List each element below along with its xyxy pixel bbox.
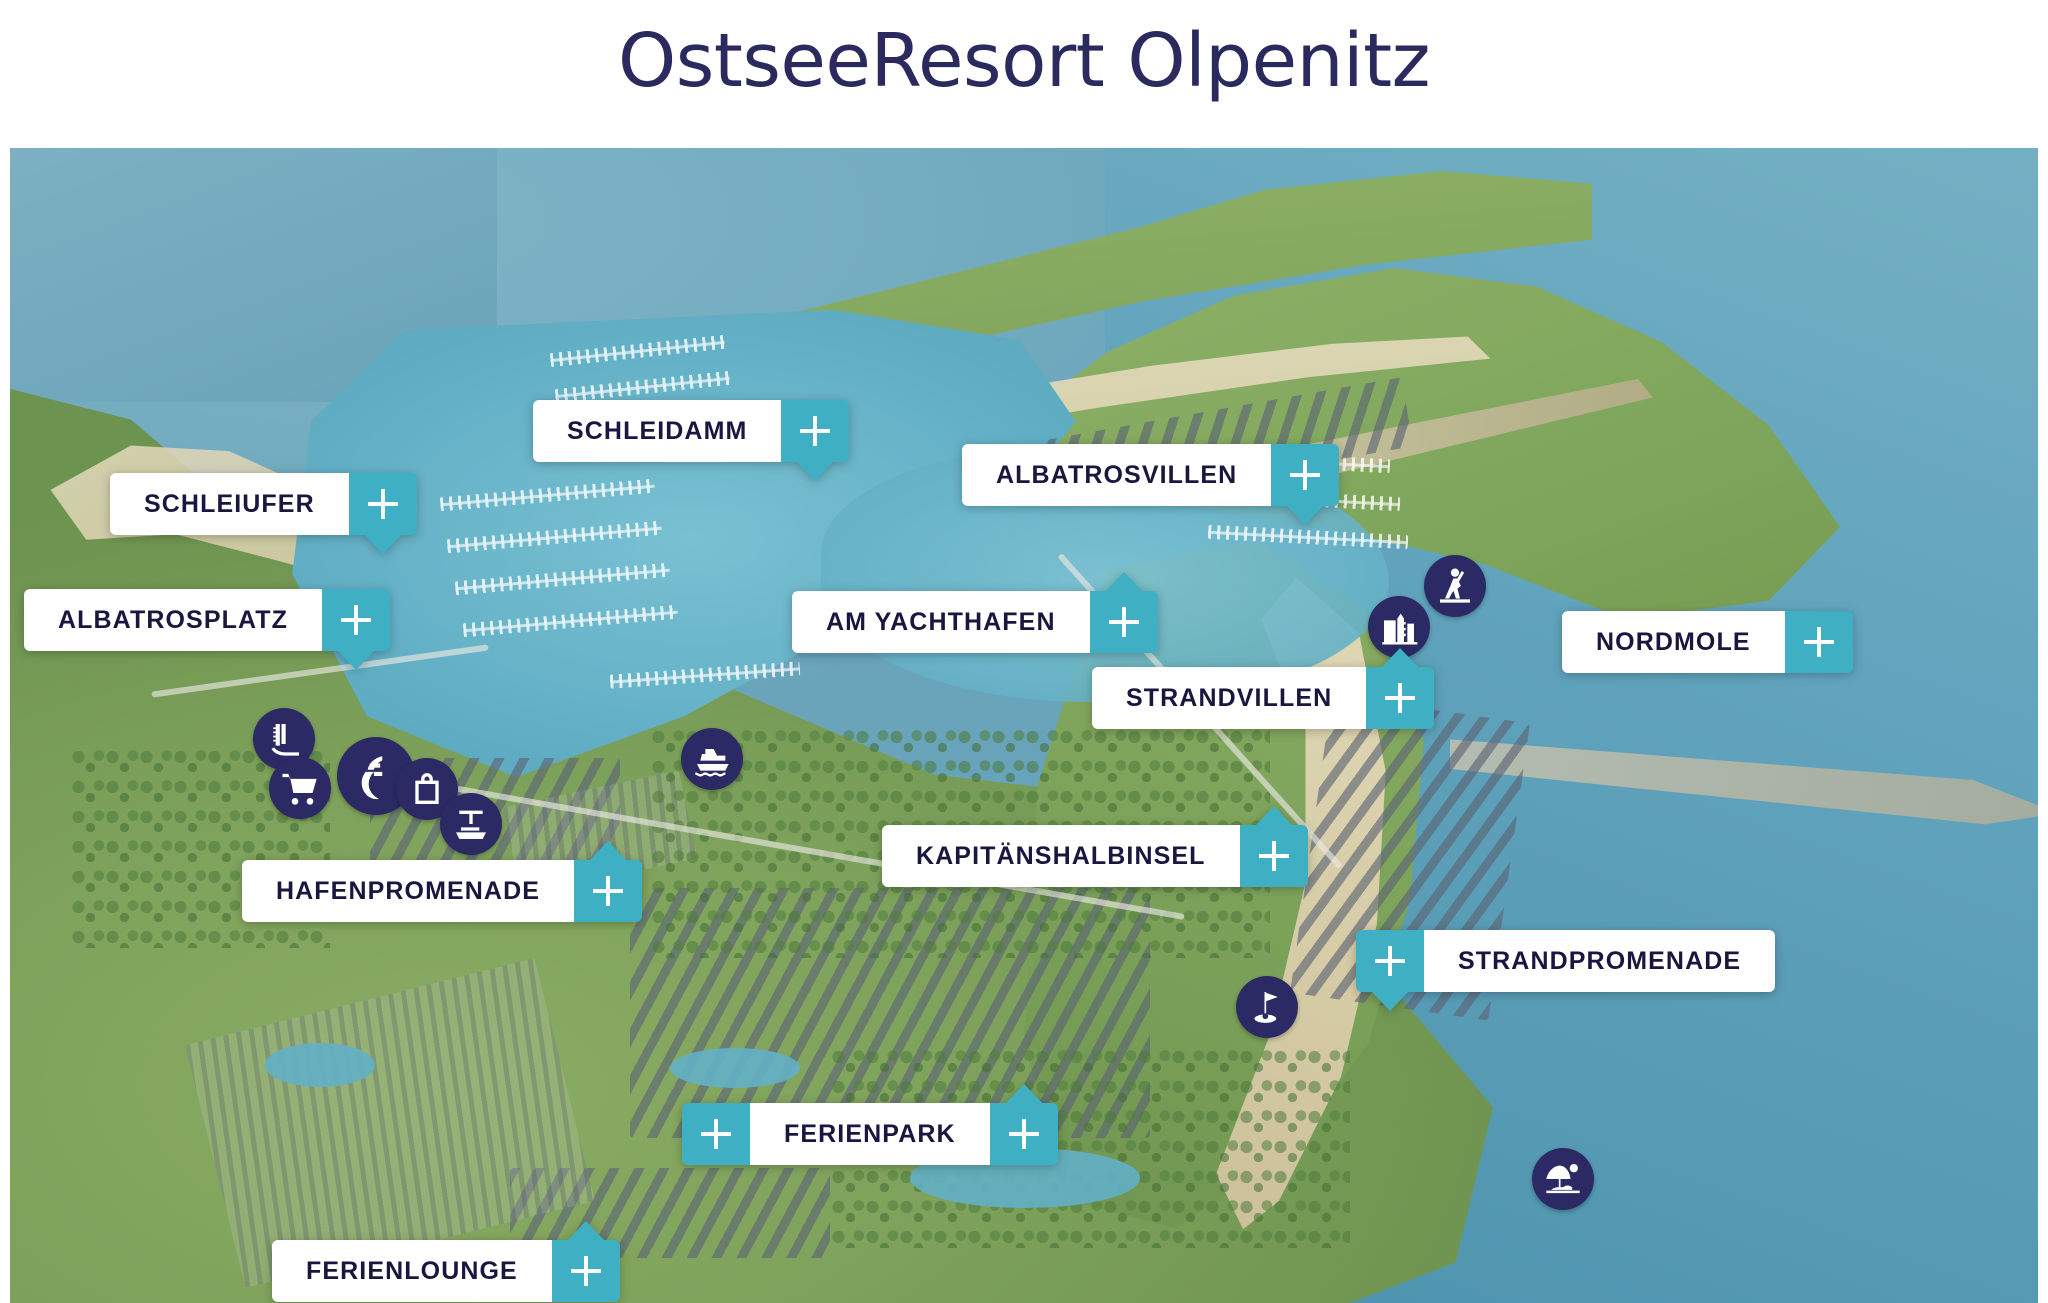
plus-icon[interactable] <box>349 473 417 535</box>
hotspot-label: SCHLEIUFER <box>110 473 349 535</box>
plus-icon[interactable] <box>1240 825 1308 887</box>
plus-icon[interactable] <box>552 1240 620 1302</box>
hotspot-label: NORDMOLE <box>1562 611 1785 673</box>
hotspot-label: FERIENLOUNGE <box>272 1240 552 1302</box>
plus-icon[interactable] <box>574 860 642 922</box>
hotspot-am-yachthafen[interactable]: AM YACHTHAFEN <box>792 591 1158 653</box>
hotspot-hafenpromenade[interactable]: HAFENPROMENADE <box>242 860 642 922</box>
plus-icon[interactable] <box>1271 444 1339 506</box>
pond-center <box>670 1048 800 1088</box>
pointer-tail <box>1255 806 1293 826</box>
pointer-tail <box>1286 505 1324 525</box>
poi-paddleboard[interactable] <box>1424 555 1486 617</box>
paddleboard-icon <box>1435 566 1475 606</box>
beach-umbrella-icon <box>1543 1159 1583 1199</box>
shopping-bag-icon <box>407 769 447 809</box>
map-page: OstseeResort Olpenitz <box>0 0 2048 1303</box>
hotspot-label: STRANDPROMENADE <box>1424 930 1775 992</box>
lighthouse-icon <box>1379 607 1419 647</box>
pointer-tail <box>364 534 402 554</box>
pointer-tail <box>1005 1084 1043 1104</box>
plus-icon[interactable] <box>1356 930 1424 992</box>
pointer-tail <box>1371 991 1409 1011</box>
poi-supermarket[interactable] <box>269 757 331 819</box>
pond-west <box>265 1043 375 1087</box>
golf-flag-icon <box>1247 987 1287 1027</box>
hotspot-albatrosvillen[interactable]: ALBATROSVILLEN <box>962 444 1339 506</box>
hotspot-label: ALBATROSVILLEN <box>962 444 1271 506</box>
hotspot-label: HAFENPROMENADE <box>242 860 574 922</box>
poi-golf[interactable] <box>1236 976 1298 1038</box>
plus-icon-left[interactable] <box>682 1103 750 1165</box>
hotspot-ferienpark[interactable]: FERIENPARK <box>682 1103 1058 1165</box>
pointer-tail <box>796 461 834 481</box>
pointer-tail <box>337 650 375 670</box>
hotspot-albatrosplatz[interactable]: ALBATROSPLATZ <box>24 589 390 651</box>
wellness-icon <box>351 751 401 801</box>
hotspot-strandpromenade[interactable]: STRANDPROMENADE <box>1356 930 1775 992</box>
plus-icon[interactable] <box>1366 667 1434 729</box>
resort-aerial-map[interactable]: SCHLEIDAMM ALBATROSVILLEN SCHLEIUFER ALB… <box>10 148 2038 1303</box>
plus-icon-right[interactable] <box>990 1103 1058 1165</box>
hotspot-schleiufer[interactable]: SCHLEIUFER <box>110 473 417 535</box>
boat-crane-icon <box>451 804 491 844</box>
plus-icon[interactable] <box>1090 591 1158 653</box>
motorboat-icon <box>692 739 732 779</box>
hotspot-label: SCHLEIDAMM <box>533 400 781 462</box>
shopping-cart-icon <box>280 768 320 808</box>
hotspot-schleidamm[interactable]: SCHLEIDAMM <box>533 400 849 462</box>
page-title: OstseeResort Olpenitz <box>0 18 2048 104</box>
hotspot-label: STRANDVILLEN <box>1092 667 1366 729</box>
poi-shipyard[interactable] <box>440 793 502 855</box>
hotspot-label: ALBATROSPLATZ <box>24 589 322 651</box>
poi-beach[interactable] <box>1532 1148 1594 1210</box>
plus-icon[interactable] <box>1785 611 1853 673</box>
hotspot-label: FERIENPARK <box>750 1103 990 1165</box>
plus-icon[interactable] <box>781 400 849 462</box>
hotspot-label: AM YACHTHAFEN <box>792 591 1090 653</box>
pointer-tail <box>567 1221 605 1241</box>
hotspot-label: KAPITÄNSHALBINSEL <box>882 825 1240 887</box>
hotspot-nordmole[interactable]: NORDMOLE <box>1562 611 1853 673</box>
pointer-tail <box>1381 648 1419 668</box>
water-slide-icon <box>264 719 304 759</box>
hotspot-ferienlounge[interactable]: FERIENLOUNGE <box>272 1240 620 1302</box>
hotspot-kapitaenshalbinsel[interactable]: KAPITÄNSHALBINSEL <box>882 825 1308 887</box>
poi-marina-boat[interactable] <box>681 728 743 790</box>
pointer-tail <box>589 841 627 861</box>
pointer-tail <box>1105 572 1143 592</box>
hotspot-strandvillen[interactable]: STRANDVILLEN <box>1092 667 1434 729</box>
plus-icon[interactable] <box>322 589 390 651</box>
